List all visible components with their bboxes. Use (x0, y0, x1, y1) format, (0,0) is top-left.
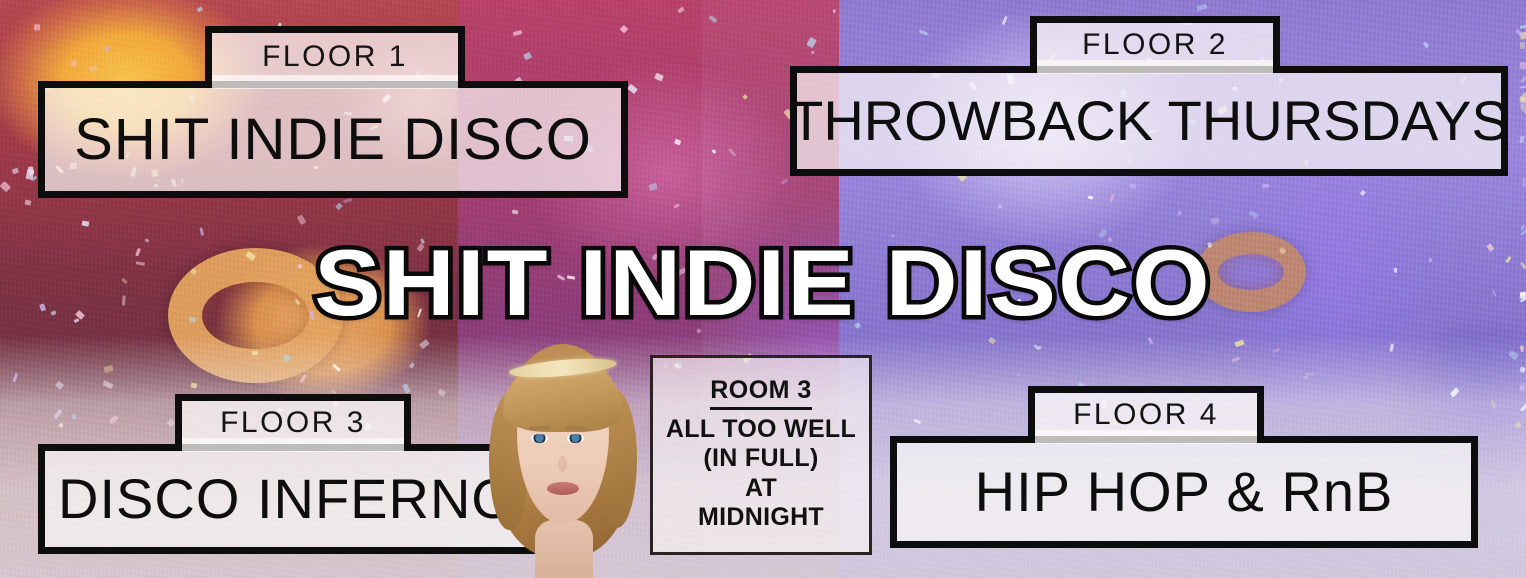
main-event-title: SHIT INDIE DISCO (0, 236, 1526, 330)
portrait-lips (547, 482, 579, 495)
room-3-heading: ROOM 3 (710, 377, 812, 409)
room-3-line-1: ALL TOO WELL (666, 415, 856, 445)
portrait-eye-right (567, 434, 584, 443)
floor-1-tab: FLOOR 1 (205, 26, 465, 81)
floor-3-seam (182, 438, 404, 452)
floor-1-name: SHIT INDIE DISCO (74, 111, 592, 169)
floor-2-seam (1037, 60, 1273, 74)
portrait-nose (558, 456, 567, 472)
floor-1-bar: SHIT INDIE DISCO (38, 81, 628, 198)
floor-2-bar: THROWBACK THURSDAYS (790, 66, 1508, 176)
floor-1-tab-label: FLOOR 1 (262, 42, 408, 72)
floor-4-seam (1035, 430, 1257, 444)
room-3-line-3: AT (745, 474, 777, 504)
portrait-neck (535, 520, 593, 578)
floor-2-tab-label: FLOOR 2 (1082, 30, 1228, 60)
artist-portrait-cutout (487, 330, 639, 578)
room-3-info-box: ROOM 3 ALL TOO WELL (IN FULL) AT MIDNIGH… (650, 355, 872, 555)
room-3-line-4: MIDNIGHT (698, 503, 824, 533)
floor-3-name: DISCO INFERNO (58, 471, 516, 527)
floor-2-tab: FLOOR 2 (1030, 16, 1280, 66)
floor-4-tab-label: FLOOR 4 (1073, 400, 1219, 430)
floor-2-name: THROWBACK THURSDAYS (789, 93, 1509, 149)
portrait-eye-left (531, 434, 548, 443)
floor-1-seam (212, 75, 458, 89)
floor-4-bar: HIP HOP & RnB (890, 436, 1478, 548)
floor-4-name: HIP HOP & RnB (975, 464, 1394, 520)
floor-3-tab-label: FLOOR 3 (220, 408, 366, 438)
event-banner: FLOOR 1 SHIT INDIE DISCO FLOOR 2 THROWBA… (0, 0, 1526, 578)
room-3-line-2: (IN FULL) (703, 444, 818, 474)
floor-3-tab: FLOOR 3 (175, 394, 411, 444)
floor-3-bar: DISCO INFERNO (38, 444, 536, 554)
floor-4-tab: FLOOR 4 (1028, 386, 1264, 436)
